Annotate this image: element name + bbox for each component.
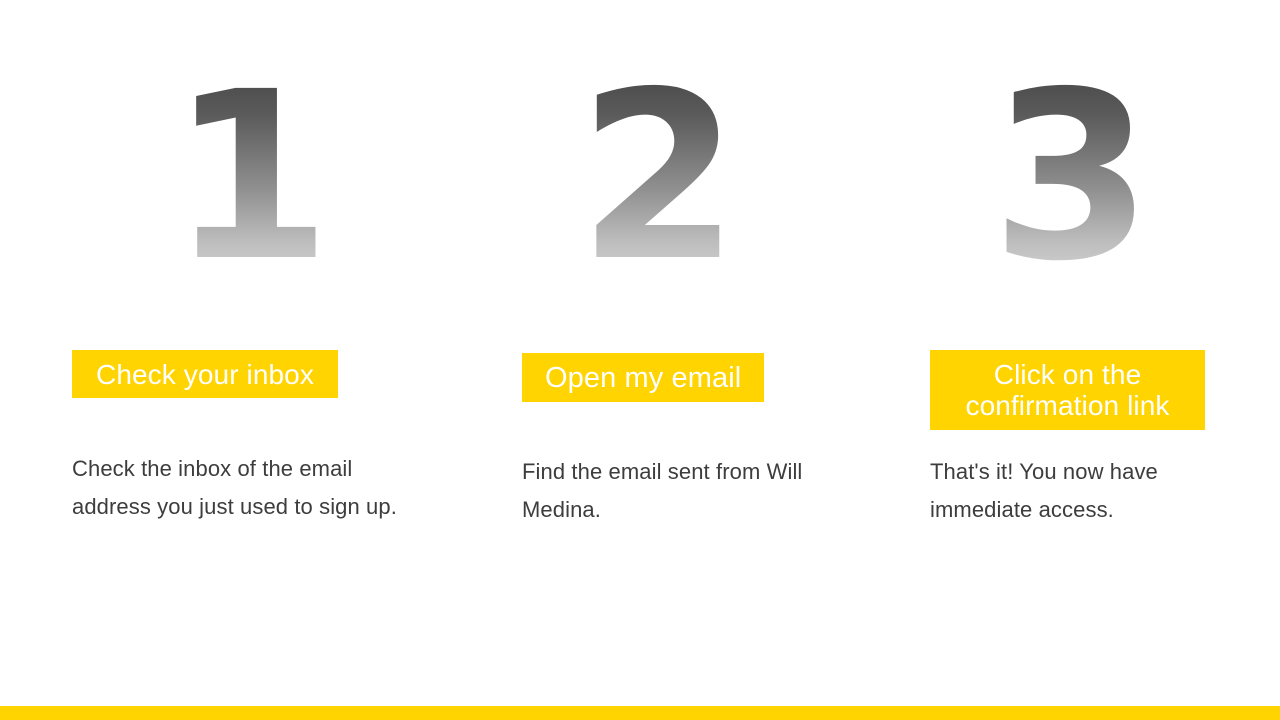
step-headline-2: Open my email: [522, 353, 764, 402]
slide-canvas: 1 Check your inbox Check the inbox of th…: [0, 0, 1280, 720]
step-column-1: 1 Check your inbox Check the inbox of th…: [0, 0, 450, 706]
step-number-2-wrap: 2: [578, 78, 735, 288]
step-body-3: That's it! You now have immediate access…: [930, 453, 1220, 529]
step-column-3: 3 Click on the confirmation link That's …: [858, 0, 1280, 706]
step-headline-3-row: Click on the confirmation link: [930, 350, 1205, 430]
step-number-2: 2: [578, 78, 735, 278]
bottom-accent-bar: [0, 706, 1280, 720]
step-number-3-wrap: 3: [991, 78, 1148, 288]
step-number-3: 3: [991, 78, 1148, 278]
steps-container: 1 Check your inbox Check the inbox of th…: [0, 0, 1280, 706]
step-headline-1: Check your inbox: [72, 350, 338, 398]
step-body-1: Check the inbox of the email address you…: [72, 450, 417, 526]
step-body-2: Find the email sent from Will Medina.: [522, 453, 822, 529]
step-number-1: 1: [170, 78, 327, 278]
step-number-1-wrap: 1: [170, 78, 327, 288]
step-headline-1-row: Check your inbox: [72, 350, 338, 398]
step-headline-2-row: Open my email: [522, 353, 764, 402]
step-headline-3: Click on the confirmation link: [930, 350, 1205, 430]
step-column-2: 2 Open my email Find the email sent from…: [450, 0, 858, 706]
